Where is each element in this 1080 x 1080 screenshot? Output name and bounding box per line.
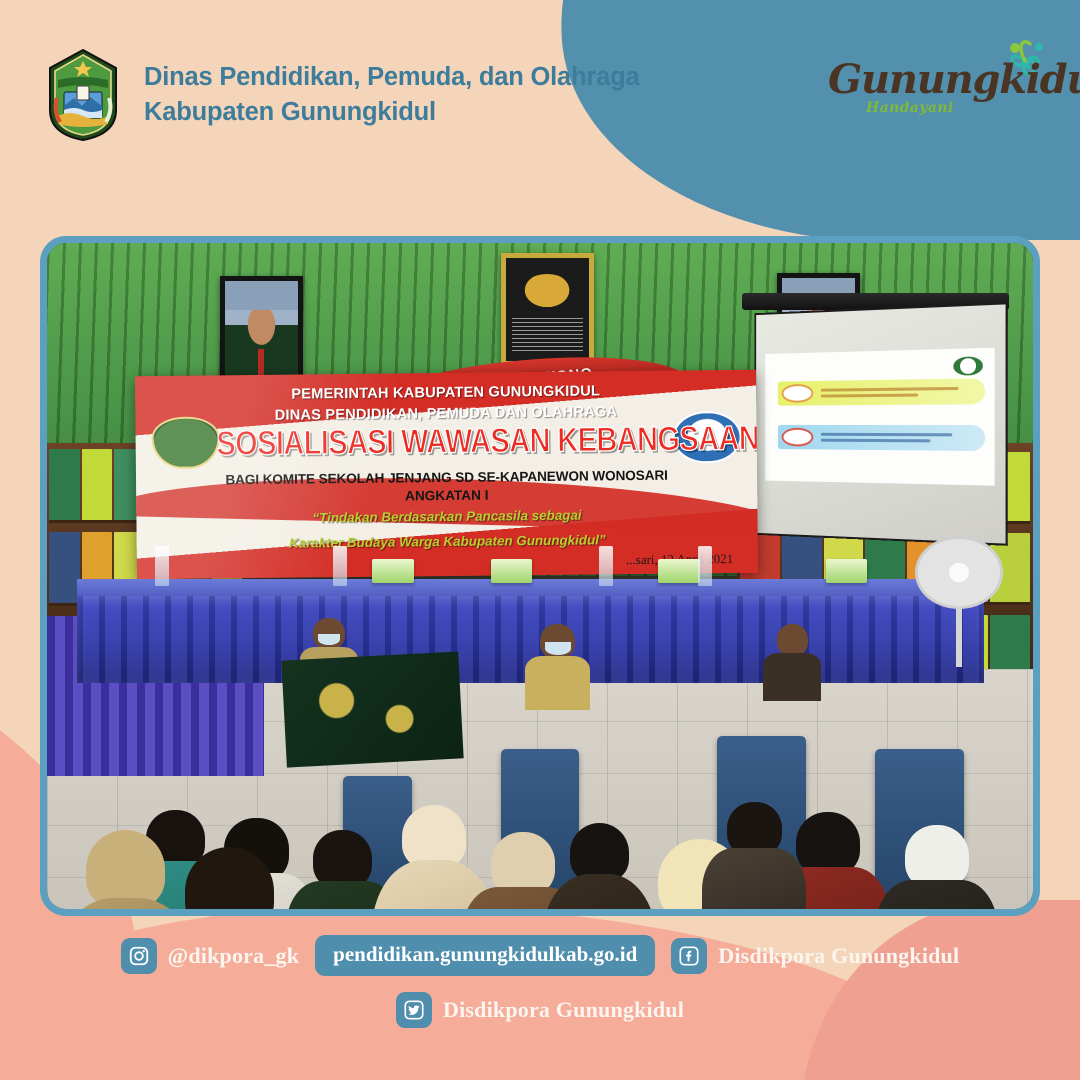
audience-member bbox=[313, 830, 372, 889]
poster-header: Dinas Pendidikan, Pemuda, dan Olahraga K… bbox=[44, 48, 639, 142]
water-bottle bbox=[599, 546, 613, 586]
brand-wordmark: Gunungkidul bbox=[828, 56, 1080, 103]
garuda-bird-shape bbox=[521, 274, 573, 309]
person-head bbox=[185, 847, 274, 909]
facebook-name: Disdikpora Gunungkidul bbox=[718, 943, 959, 969]
audience-member bbox=[570, 823, 629, 882]
twitter-account[interactable]: Disdikpora Gunungkidul bbox=[396, 992, 684, 1028]
header-line-1: Dinas Pendidikan, Pemuda, dan Olahraga bbox=[144, 62, 639, 94]
gunungkidul-regency-crest-icon bbox=[44, 48, 122, 142]
header-title-block: Dinas Pendidikan, Pemuda, dan Olahraga K… bbox=[144, 62, 639, 129]
audience-member bbox=[796, 812, 860, 876]
standing-fan-icon bbox=[915, 536, 1004, 609]
gunungkidul-brand-logo: Gunungkidul Handayani bbox=[828, 38, 1058, 130]
audience-member bbox=[727, 802, 781, 856]
seated-official-left bbox=[313, 618, 345, 650]
slide-content bbox=[765, 347, 995, 485]
person-body bbox=[763, 653, 821, 700]
portrait-figure bbox=[225, 310, 299, 378]
regency-crest-icon bbox=[151, 416, 220, 470]
audience-member bbox=[185, 847, 274, 909]
snack-box bbox=[491, 559, 532, 583]
footer-row-secondary: Disdikpora Gunungkidul bbox=[0, 992, 1080, 1028]
poster-canvas: Dinas Pendidikan, Pemuda, dan Olahraga K… bbox=[0, 0, 1080, 1080]
twitter-icon[interactable] bbox=[396, 992, 432, 1028]
slide-text-lines bbox=[813, 383, 985, 400]
face-mask bbox=[318, 634, 341, 645]
instagram-account[interactable]: @dikpora_gk bbox=[121, 938, 299, 974]
event-photo-card: NEGERI 2 WONO bbox=[40, 236, 1040, 916]
tie-shape bbox=[258, 349, 264, 377]
person-body bbox=[525, 656, 590, 709]
event-photograph: NEGERI 2 WONO bbox=[47, 243, 1033, 909]
banner-text-block: PEMERINTAH KABUPATEN GUNUNGKIDUL DINAS P… bbox=[216, 381, 677, 555]
person-head bbox=[777, 624, 809, 656]
audience-member bbox=[491, 832, 555, 896]
snack-box bbox=[658, 559, 699, 583]
twitter-name: Disdikpora Gunungkidul bbox=[443, 997, 684, 1023]
garuda-pancasila-icon bbox=[501, 253, 595, 366]
website-url-pill[interactable]: pendidikan.gunungkidulkab.go.id bbox=[315, 935, 655, 976]
water-bottle bbox=[333, 546, 347, 586]
water-bottle bbox=[698, 546, 712, 586]
instagram-handle: @dikpora_gk bbox=[168, 943, 299, 969]
pancasila-text-lines bbox=[512, 318, 582, 353]
person-head bbox=[313, 618, 345, 650]
slide-text-lines bbox=[813, 429, 985, 445]
facebook-icon[interactable] bbox=[671, 938, 707, 974]
speaker-presenter bbox=[540, 624, 575, 659]
audience-member bbox=[402, 805, 466, 869]
person-body bbox=[702, 848, 806, 909]
audience-member bbox=[905, 825, 969, 889]
audience-member bbox=[86, 830, 165, 909]
poster-footer: @dikpora_gk pendidikan.gunungkidulkab.go… bbox=[0, 935, 1080, 1028]
slide-bullet-2 bbox=[782, 427, 813, 446]
footer-row-primary: @dikpora_gk pendidikan.gunungkidulkab.go… bbox=[0, 935, 1080, 976]
instagram-icon[interactable] bbox=[121, 938, 157, 974]
snack-box bbox=[826, 559, 867, 583]
slide-logo-icon bbox=[953, 356, 982, 376]
brand-tagline: Handayani bbox=[866, 100, 954, 116]
header-line-2: Kabupaten Gunungkidul bbox=[144, 97, 639, 129]
seated-official-right bbox=[777, 624, 809, 656]
snack-box bbox=[372, 559, 413, 583]
facebook-account[interactable]: Disdikpora Gunungkidul bbox=[671, 938, 959, 974]
president-portrait-icon bbox=[220, 276, 304, 383]
slide-row-2 bbox=[778, 425, 985, 451]
banner-title: SOSIALISASI WAWASAN KEBANGSAAN bbox=[216, 422, 676, 463]
person-head bbox=[540, 624, 575, 659]
banner-quote-line-1: “Tindakan Berdasarkan Pancasila sebagai bbox=[217, 505, 677, 531]
projection-screen-icon bbox=[747, 293, 1003, 539]
slide-bullet-1 bbox=[782, 383, 813, 402]
batik-cloth-drape bbox=[281, 651, 464, 767]
face-mask bbox=[545, 642, 571, 655]
projection-surface bbox=[754, 302, 1008, 545]
event-banner-spanduk: PEMERINTAH KABUPATEN GUNUNGKIDUL DINAS P… bbox=[135, 370, 758, 580]
slide-row-1 bbox=[778, 378, 985, 406]
water-bottle bbox=[155, 546, 169, 586]
